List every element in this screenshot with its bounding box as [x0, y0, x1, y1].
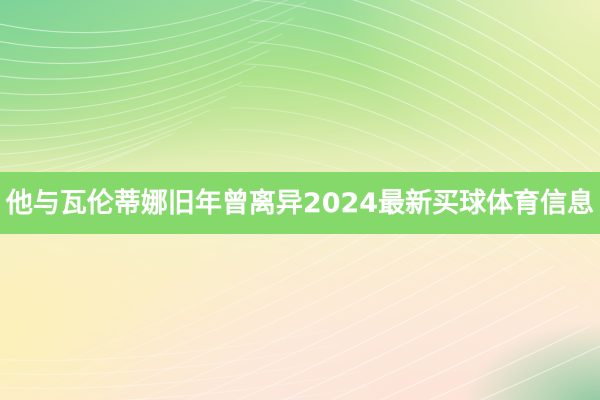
- decorative-banner: 他与瓦伦蒂娜旧年曾离异2024最新买球体育信息: [0, 0, 600, 400]
- headline-band: 他与瓦伦蒂娜旧年曾离异2024最新买球体育信息: [0, 172, 600, 234]
- headline-text: 他与瓦伦蒂娜旧年曾离异2024最新买球体育信息: [6, 190, 594, 217]
